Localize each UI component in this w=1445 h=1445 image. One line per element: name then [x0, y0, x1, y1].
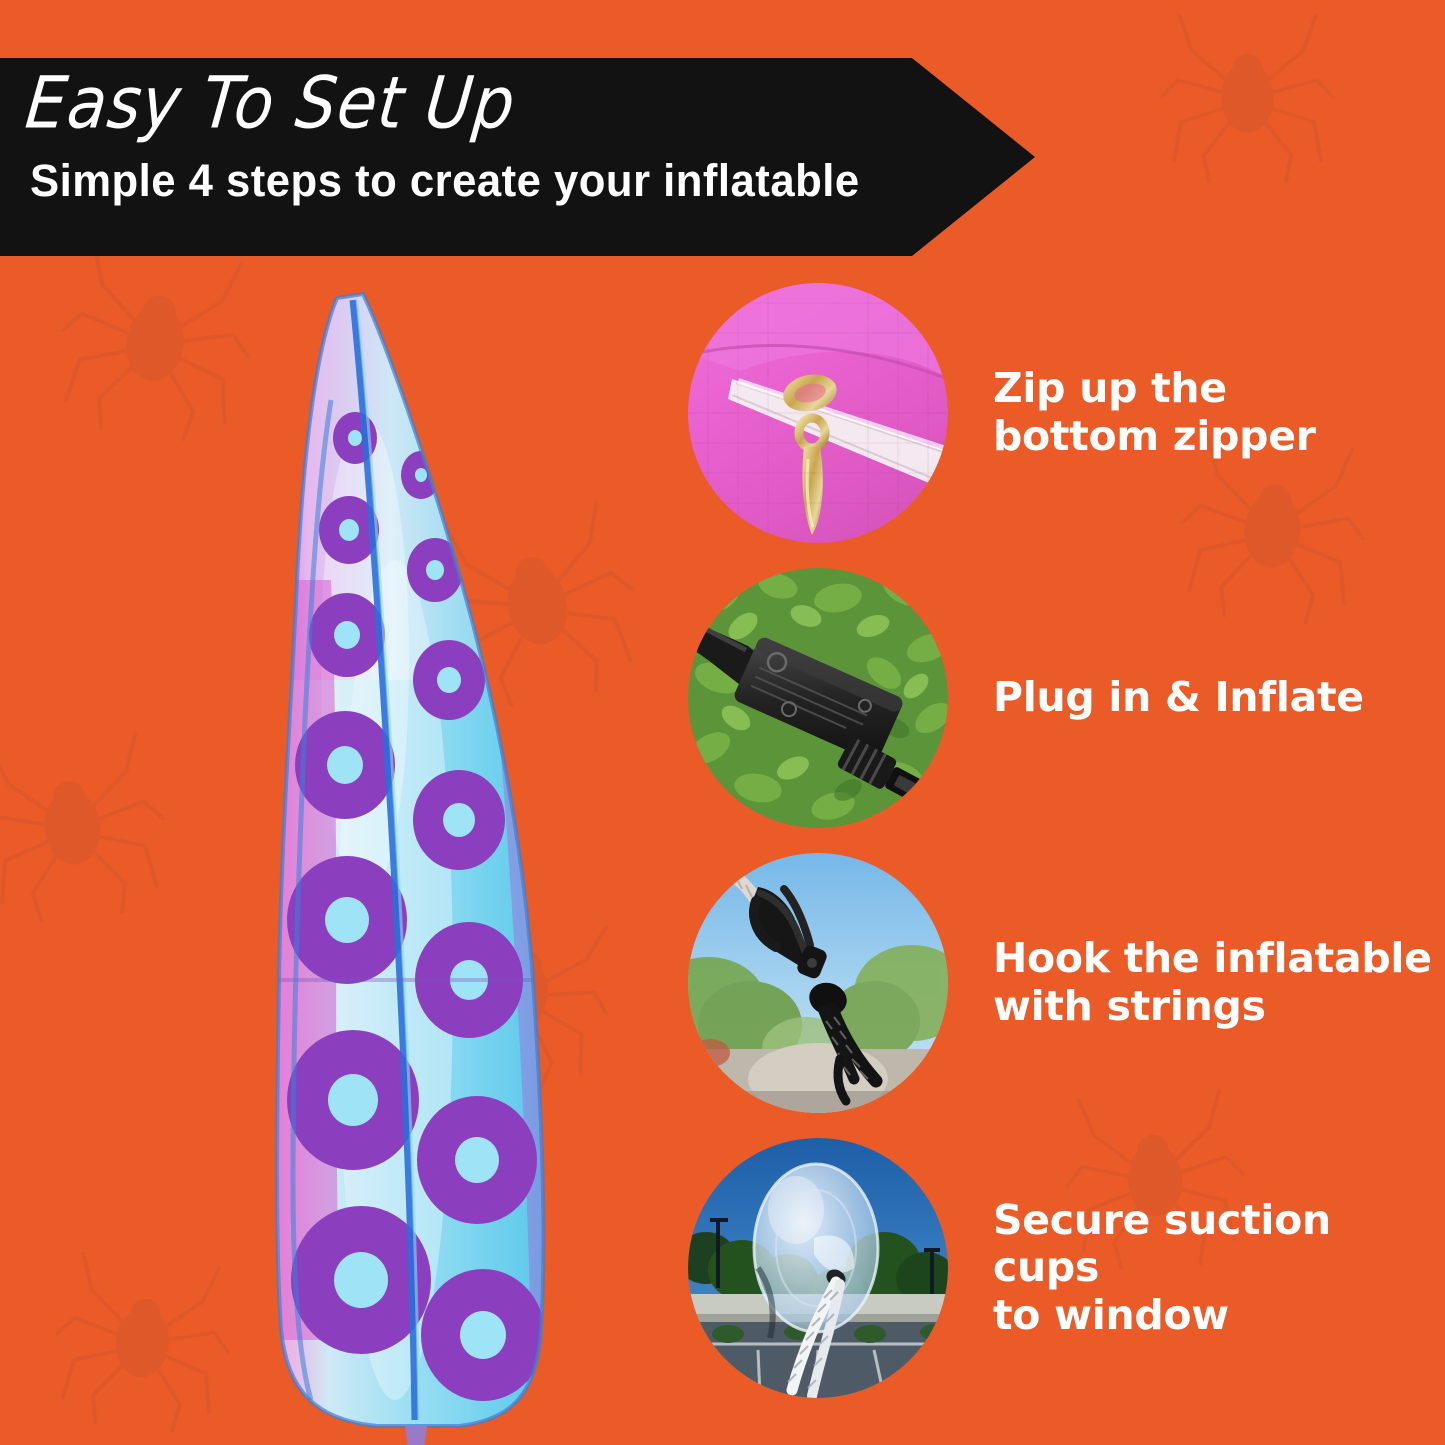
step-thumbnail-zipper[interactable] [688, 283, 948, 543]
product-image-tentacle [245, 280, 595, 1445]
steps-list: Zip up the bottom zipper [688, 283, 1433, 1423]
page-subtitle: Simple 4 steps to create your inflatable [30, 158, 860, 203]
carabiner-hook-photo [688, 853, 948, 1113]
page-title: Easy To Set Up [22, 68, 885, 140]
step-item-2: Plug in & Inflate [688, 568, 1433, 828]
zipper-photo [688, 283, 948, 543]
step-thumbnail-carabiner[interactable] [688, 853, 948, 1113]
banner-text-group: Easy To Set Up Simple 4 steps to create … [30, 68, 885, 203]
step-label-4: Secure suction cups to window [993, 1197, 1433, 1340]
header-banner: Easy To Set Up Simple 4 steps to create … [0, 58, 1035, 256]
step-item-1: Zip up the bottom zipper [688, 283, 1433, 543]
step-item-3: Hook the inflatable with strings [688, 853, 1433, 1113]
step-label-2: Plug in & Inflate [993, 674, 1364, 722]
step-thumbnail-suction-cup[interactable] [688, 1138, 948, 1398]
power-adapter-photo [688, 568, 948, 828]
step-label-1: Zip up the bottom zipper [993, 365, 1316, 460]
step-item-4: Secure suction cups to window [688, 1138, 1433, 1398]
infographic-page: Easy To Set Up Simple 4 steps to create … [0, 0, 1445, 1445]
suction-cup-photo [688, 1138, 948, 1398]
step-label-3: Hook the inflatable with strings [993, 935, 1432, 1030]
tentacle-svg [245, 280, 595, 1445]
step-thumbnail-power-adapter[interactable] [688, 568, 948, 828]
